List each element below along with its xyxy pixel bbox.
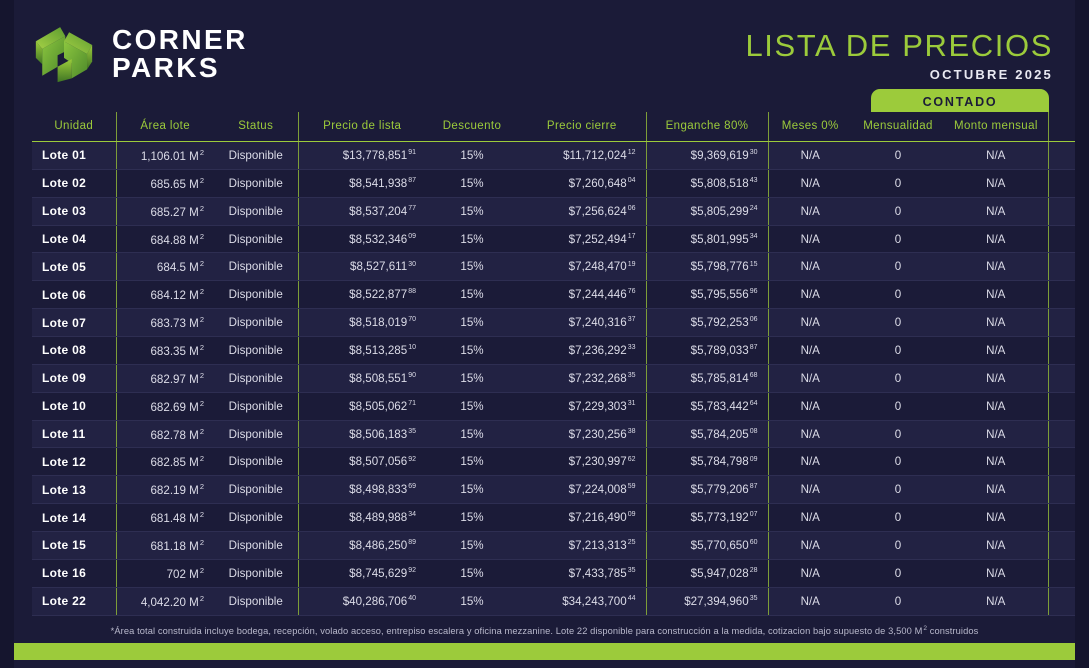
table-row[interactable]: Lote 15681.18 M2Disponible$8,486,2508915… [32,532,1089,560]
cell-precio-cierre: $7,232,26835 [518,364,646,392]
cell-monto-mensual: N/A [944,559,1048,587]
cell-enganche: $27,394,96035 [646,587,768,615]
col-finiquito[interactable]: Finiquito 20% [1048,112,1089,142]
cell-unidad: Lote 12 [32,448,116,476]
cell-meses: N/A [768,169,852,197]
col-mensualidad[interactable]: Mensualidad [852,112,944,142]
cell-descuento: 15% [426,337,518,365]
cell-precio-cierre: $7,260,64804 [518,169,646,197]
table-row[interactable]: Lote 14681.48 M2Disponible$8,489,9883415… [32,504,1089,532]
cell-mensualidad: 0 [852,448,944,476]
brand-name: CORNER PARKS [112,26,248,82]
bottom-accent-bar [14,643,1075,660]
table-row[interactable]: Lote 04684.88 M2Disponible$8,532,3460915… [32,225,1089,253]
cell-unidad: Lote 04 [32,225,116,253]
col-enganche[interactable]: Enganche 80% [646,112,768,142]
cell-precio-lista: $8,513,28510 [298,337,426,365]
cell-unidad: Lote 05 [32,253,116,281]
cell-finiquito: $1,448,88974 [1048,281,1089,309]
cell-unidad: Lote 11 [32,420,116,448]
table-row[interactable]: Lote 12682.85 M2Disponible$8,507,0569215… [32,448,1089,476]
cell-descuento: 15% [426,197,518,225]
cell-precio-lista: $8,745,62992 [298,559,426,587]
cell-finiquito: $2,342,40482 [1048,142,1089,170]
page-title: LISTA DE PRECIOS [745,30,1053,61]
cell-mensualidad: 0 [852,197,944,225]
cell-area: 682.19 M2 [116,476,214,504]
cell-precio-cierre: $7,433,78535 [518,559,646,587]
cell-mensualidad: 0 [852,169,944,197]
cell-status: Disponible [214,309,298,337]
cell-descuento: 15% [426,559,518,587]
cell-area: 683.35 M2 [116,337,214,365]
cell-precio-lista: $8,508,55190 [298,364,426,392]
cell-mensualidad: 0 [852,225,944,253]
cell-status: Disponible [214,169,298,197]
cell-area: 682.69 M2 [116,392,214,420]
cell-unidad: Lote 16 [32,559,116,587]
cell-precio-cierre: $7,240,31637 [518,309,646,337]
cell-precio-cierre: $7,230,25638 [518,420,646,448]
cell-monto-mensual: N/A [944,281,1048,309]
cell-monto-mensual: N/A [944,476,1048,504]
cell-precio-cierre: $7,229,30331 [518,392,646,420]
col-precio-cierre[interactable]: Precio cierre [518,112,646,142]
cell-precio-cierre: $7,224,00859 [518,476,646,504]
cell-descuento: 15% [426,142,518,170]
cell-mensualidad: 0 [852,392,944,420]
cell-meses: N/A [768,587,852,615]
cell-enganche: $5,789,03387 [646,337,768,365]
cell-monto-mensual: N/A [944,197,1048,225]
cell-area: 684.12 M2 [116,281,214,309]
corner-parks-logo-icon [32,22,96,86]
cell-finiquito: $1,444,80172 [1048,476,1089,504]
cell-precio-lista: $8,505,06271 [298,392,426,420]
cell-status: Disponible [214,253,298,281]
cell-mensualidad: 0 [852,587,944,615]
cell-descuento: 15% [426,448,518,476]
cell-enganche: $5,808,51843 [646,169,768,197]
cell-finiquito: $1,442,66265 [1048,532,1089,560]
cell-meses: N/A [768,309,852,337]
cell-enganche: $5,784,79809 [646,448,768,476]
cell-meses: N/A [768,364,852,392]
table-row[interactable]: Lote 11682.78 M2Disponible$8,506,1833515… [32,420,1089,448]
brand-line-1: CORNER [112,26,248,54]
brand-block: CORNER PARKS [32,22,248,86]
cell-precio-lista: $8,498,83369 [298,476,426,504]
cell-enganche: $5,795,55696 [646,281,768,309]
cell-precio-lista: $8,489,98834 [298,504,426,532]
cell-monto-mensual: N/A [944,253,1048,281]
cell-monto-mensual: N/A [944,504,1048,532]
cell-monto-mensual: N/A [944,364,1048,392]
brand-line-2: PARKS [112,54,248,82]
price-list-page: CORNER PARKS LISTA DE PRECIOS OCTUBRE 20… [0,0,1089,668]
cell-finiquito: $1,452,12961 [1048,169,1089,197]
cell-precio-cierre: $7,256,62406 [518,197,646,225]
cell-enganche: $5,785,81468 [646,364,768,392]
cell-area: 683.73 M2 [116,309,214,337]
cell-meses: N/A [768,253,852,281]
cell-meses: N/A [768,420,852,448]
page-header: CORNER PARKS LISTA DE PRECIOS OCTUBRE 20… [14,0,1075,112]
cell-finiquito: $1,451,32481 [1048,197,1089,225]
cell-enganche: $5,792,25306 [646,309,768,337]
cell-descuento: 15% [426,281,518,309]
cell-enganche: $5,798,77615 [646,253,768,281]
cell-finiquito: $1,447,25847 [1048,337,1089,365]
cell-precio-lista: $8,541,93887 [298,169,426,197]
cell-meses: N/A [768,532,852,560]
tab-contado[interactable]: CONTADO [871,89,1049,114]
footnote-part2: construidos [927,626,978,636]
cell-area: 1,106.01 M2 [116,142,214,170]
cell-meses: N/A [768,337,852,365]
cell-area: 682.97 M2 [116,364,214,392]
cell-finiquito: $1,446,45367 [1048,364,1089,392]
cell-precio-lista: $8,522,87788 [298,281,426,309]
page-subtitle: OCTUBRE 2025 [745,67,1053,82]
cell-enganche: $5,801,99534 [646,225,768,253]
col-unidad[interactable]: Unidad [32,112,116,142]
cell-meses: N/A [768,504,852,532]
table-row[interactable]: Lote 03685.27 M2Disponible$8,537,2047715… [32,197,1089,225]
cell-finiquito: $1,446,19952 [1048,448,1089,476]
cell-precio-lista: $8,518,01970 [298,309,426,337]
table-row[interactable]: Lote 13682.19 M2Disponible$8,498,8336915… [32,476,1089,504]
cell-precio-lista: $8,537,20477 [298,197,426,225]
cell-precio-cierre: $34,243,70044 [518,587,646,615]
cell-meses: N/A [768,142,852,170]
cell-precio-cierre: $7,230,99762 [518,448,646,476]
cell-monto-mensual: N/A [944,420,1048,448]
cell-precio-lista: $8,507,05692 [298,448,426,476]
cell-finiquito: $1,443,29802 [1048,504,1089,532]
cell-monto-mensual: N/A [944,142,1048,170]
cell-descuento: 15% [426,364,518,392]
cell-enganche: $5,947,02828 [646,559,768,587]
cell-precio-lista: $8,532,34609 [298,225,426,253]
cell-unidad: Lote 14 [32,504,116,532]
cell-area: 681.48 M2 [116,504,214,532]
cell-area: 685.65 M2 [116,169,214,197]
table-row[interactable]: Lote 08683.35 M2Disponible$8,513,2851015… [32,337,1089,365]
cell-descuento: 15% [426,253,518,281]
col-precio-lista[interactable]: Precio de lista [298,112,426,142]
cell-descuento: 15% [426,225,518,253]
cell-mensualidad: 0 [852,504,944,532]
table-row[interactable]: Lote 011,106.01 M2Disponible$13,778,8519… [32,142,1089,170]
cell-monto-mensual: N/A [944,337,1048,365]
cell-enganche: $5,779,20687 [646,476,768,504]
table-header: Unidad Área lote Status Precio de lista … [32,112,1089,142]
table-row[interactable]: Lote 16702 M2Disponible$8,745,6299215%$7… [32,559,1089,587]
price-table: Unidad Área lote Status Precio de lista … [32,112,1089,616]
cell-area: 684.88 M2 [116,225,214,253]
cell-status: Disponible [214,559,298,587]
cell-unidad: Lote 08 [32,337,116,365]
cell-finiquito: $6,848,74008 [1048,587,1089,615]
cell-mensualidad: 0 [852,532,944,560]
cell-status: Disponible [214,532,298,560]
cell-unidad: Lote 06 [32,281,116,309]
cell-meses: N/A [768,281,852,309]
table-row[interactable]: Lote 06684.12 M2Disponible$8,522,8778815… [32,281,1089,309]
cell-mensualidad: 0 [852,309,944,337]
cell-meses: N/A [768,225,852,253]
cell-mensualidad: 0 [852,476,944,504]
col-status[interactable]: Status [214,112,298,142]
cell-descuento: 15% [426,504,518,532]
cell-finiquito: $1,449,69404 [1048,253,1089,281]
cell-mensualidad: 0 [852,364,944,392]
cell-unidad: Lote 13 [32,476,116,504]
cell-descuento: 15% [426,420,518,448]
cell-mensualidad: 0 [852,281,944,309]
cell-meses: N/A [768,392,852,420]
table-row[interactable]: Lote 10682.69 M2Disponible$8,505,0627115… [32,392,1089,420]
cell-meses: N/A [768,448,852,476]
cell-finiquito: $1,446,05177 [1048,420,1089,448]
title-block: LISTA DE PRECIOS OCTUBRE 2025 [745,30,1053,82]
col-descuento[interactable]: Descuento [426,112,518,142]
table-row[interactable]: Lote 07683.73 M2Disponible$8,518,0197015… [32,309,1089,337]
cell-area: 682.78 M2 [116,420,214,448]
cell-enganche: $5,770,65060 [646,532,768,560]
table-row[interactable]: Lote 05684.5 M2Disponible$8,527,6113015%… [32,253,1089,281]
cell-mensualidad: 0 [852,420,944,448]
price-table-wrap: Unidad Área lote Status Precio de lista … [14,112,1075,636]
cell-precio-cierre: $7,244,44676 [518,281,646,309]
col-meses[interactable]: Meses 0% [768,112,852,142]
table-row[interactable]: Lote 224,042.20 M2Disponible$40,286,7064… [32,587,1089,615]
cell-descuento: 15% [426,392,518,420]
cell-precio-lista: $8,527,61130 [298,253,426,281]
cell-monto-mensual: N/A [944,225,1048,253]
cell-descuento: 15% [426,532,518,560]
cell-precio-lista: $8,506,18335 [298,420,426,448]
table-body: Lote 011,106.01 M2Disponible$13,778,8519… [32,142,1089,616]
cell-area: 682.85 M2 [116,448,214,476]
cell-precio-cierre: $11,712,02412 [518,142,646,170]
cell-mensualidad: 0 [852,559,944,587]
cell-area: 681.18 M2 [116,532,214,560]
cell-unidad: Lote 03 [32,197,116,225]
cell-monto-mensual: N/A [944,532,1048,560]
cell-status: Disponible [214,337,298,365]
cell-unidad: Lote 01 [32,142,116,170]
cell-status: Disponible [214,392,298,420]
cell-descuento: 15% [426,587,518,615]
cell-finiquito: $1,486,75707 [1048,559,1089,587]
cell-status: Disponible [214,587,298,615]
cell-finiquito: $1,448,06376 [1048,309,1089,337]
cell-meses: N/A [768,559,852,587]
cell-status: Disponible [214,142,298,170]
cell-mensualidad: 0 [852,337,944,365]
cell-status: Disponible [214,504,298,532]
cell-enganche: $5,773,19207 [646,504,768,532]
cell-meses: N/A [768,197,852,225]
cell-status: Disponible [214,420,298,448]
cell-enganche: $5,805,29924 [646,197,768,225]
cell-monto-mensual: N/A [944,448,1048,476]
cell-unidad: Lote 15 [32,532,116,560]
cell-unidad: Lote 22 [32,587,116,615]
col-area-lote[interactable]: Área lote [116,112,214,142]
cell-unidad: Lote 10 [32,392,116,420]
table-row[interactable]: Lote 09682.97 M2Disponible$8,508,5519015… [32,364,1089,392]
cell-monto-mensual: N/A [944,169,1048,197]
cell-status: Disponible [214,197,298,225]
cell-mensualidad: 0 [852,253,944,281]
cell-enganche: $5,783,44264 [646,392,768,420]
footnote: *Área total construida incluye bodega, r… [32,625,1057,636]
cell-area: 4,042.20 M2 [116,587,214,615]
cell-precio-cierre: $7,213,31325 [518,532,646,560]
cell-status: Disponible [214,225,298,253]
cell-unidad: Lote 07 [32,309,116,337]
cell-precio-cierre: $7,252,49417 [518,225,646,253]
cell-status: Disponible [214,448,298,476]
header-row: Unidad Área lote Status Precio de lista … [32,112,1089,142]
cell-precio-lista: $40,286,70640 [298,587,426,615]
cell-finiquito: $1,445,86066 [1048,392,1089,420]
cell-monto-mensual: N/A [944,587,1048,615]
cell-status: Disponible [214,364,298,392]
cell-finiquito: $1,450,49883 [1048,225,1089,253]
cell-descuento: 15% [426,169,518,197]
cell-mensualidad: 0 [852,142,944,170]
cell-unidad: Lote 02 [32,169,116,197]
cell-enganche: $5,784,20508 [646,420,768,448]
cell-precio-lista: $13,778,85191 [298,142,426,170]
cell-monto-mensual: N/A [944,309,1048,337]
cell-unidad: Lote 09 [32,364,116,392]
cell-precio-cierre: $7,216,49009 [518,504,646,532]
cell-status: Disponible [214,281,298,309]
cell-area: 684.5 M2 [116,253,214,281]
cell-area: 685.27 M2 [116,197,214,225]
col-monto-mensual[interactable]: Monto mensual [944,112,1048,142]
cell-descuento: 15% [426,309,518,337]
cell-precio-cierre: $7,236,29233 [518,337,646,365]
cell-area: 702 M2 [116,559,214,587]
cell-meses: N/A [768,476,852,504]
cell-enganche: $9,369,61930 [646,142,768,170]
table-row[interactable]: Lote 02685.65 M2Disponible$8,541,9388715… [32,169,1089,197]
cell-monto-mensual: N/A [944,392,1048,420]
cell-descuento: 15% [426,476,518,504]
footnote-part1: *Área total construida incluye bodega, r… [111,626,923,636]
cell-precio-cierre: $7,248,47019 [518,253,646,281]
cell-status: Disponible [214,476,298,504]
cell-precio-lista: $8,486,25089 [298,532,426,560]
